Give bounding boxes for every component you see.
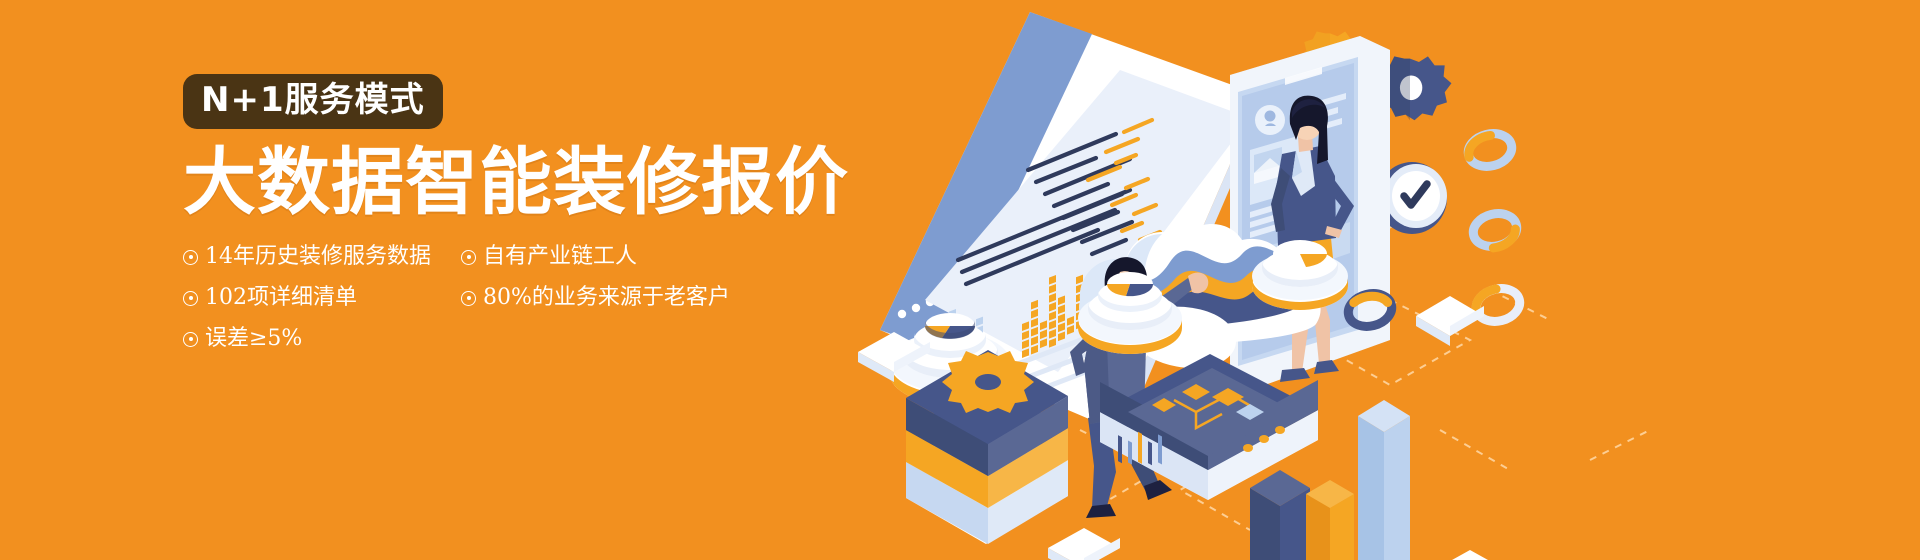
bullet-dot-icon bbox=[183, 291, 198, 306]
list-item: 误差≥5% bbox=[183, 327, 433, 351]
feature-column-right: 自有产业链工人 80%的业务来源于老客户 bbox=[461, 245, 730, 352]
isometric-illustration bbox=[830, 0, 1920, 560]
list-item: 80%的业务来源于老客户 bbox=[461, 286, 730, 310]
list-item: 14年历史装修服务数据 bbox=[183, 245, 433, 269]
promo-banner: N+1服务模式 大数据智能装修报价 14年历史装修服务数据 102项详细清单 误… bbox=[0, 0, 1920, 560]
bullet-dot-icon bbox=[183, 332, 198, 347]
list-item-label: 误差≥5% bbox=[205, 327, 302, 351]
service-model-badge: N+1服务模式 bbox=[183, 74, 443, 129]
bullet-dot-icon bbox=[461, 291, 476, 306]
bullet-dot-icon bbox=[183, 250, 198, 265]
list-item: 102项详细清单 bbox=[183, 286, 433, 310]
list-item-label: 14年历史装修服务数据 bbox=[205, 245, 431, 269]
banner-copy: N+1服务模式 大数据智能装修报价 14年历史装修服务数据 102项详细清单 误… bbox=[183, 74, 823, 352]
list-item-label: 102项详细清单 bbox=[205, 286, 357, 310]
list-item-label: 80%的业务来源于老客户 bbox=[483, 286, 730, 310]
feature-list: 14年历史装修服务数据 102项详细清单 误差≥5% 自有产业链工人 bbox=[183, 245, 823, 352]
list-item-label: 自有产业链工人 bbox=[483, 245, 637, 269]
page-title: 大数据智能装修报价 bbox=[183, 146, 823, 219]
feature-column-left: 14年历史装修服务数据 102项详细清单 误差≥5% bbox=[183, 245, 433, 352]
list-item: 自有产业链工人 bbox=[461, 245, 730, 269]
bullet-dot-icon bbox=[461, 250, 476, 265]
